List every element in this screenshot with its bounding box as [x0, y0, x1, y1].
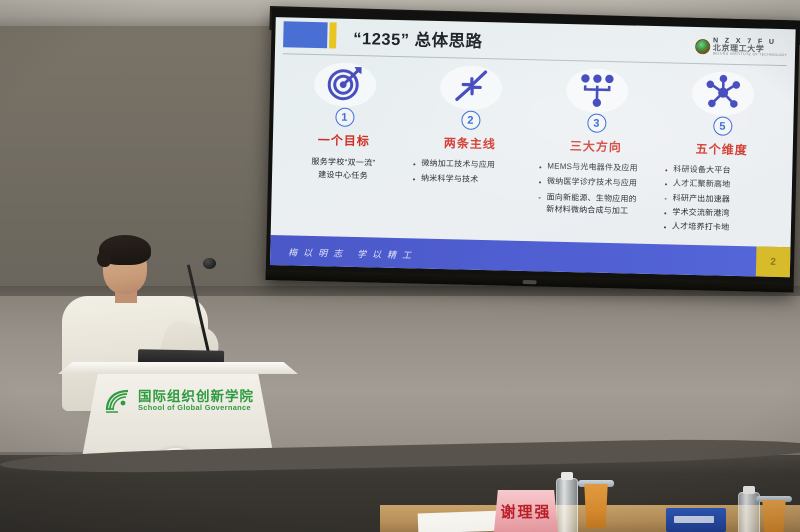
column-heading: 三大方向: [570, 137, 622, 155]
name-plate: 谢理强: [494, 490, 558, 532]
tree-hierarchy-icon: [577, 66, 618, 113]
column-bullet: 微纳加工技术与应用: [410, 157, 528, 173]
presentation-slide: “1235” 总体思路 N Z X 7 F U 北京理工大学 BEIJING I…: [270, 17, 796, 277]
column-number: 3: [587, 113, 606, 132]
microphone-icon: [203, 258, 216, 269]
projection-screen: “1235” 总体思路 N Z X 7 F U 北京理工大学 BEIJING I…: [266, 8, 800, 292]
column-bullet: 科研产出加速器: [661, 192, 779, 208]
water-bottle: [556, 478, 578, 532]
column-heading: 五个维度: [696, 140, 748, 158]
tissue-box: [666, 508, 726, 532]
podium-logo-en: School of Global Governance: [138, 404, 254, 412]
column-bullet: 人才培养打卡地: [661, 220, 779, 236]
slide-title: “1235” 总体思路: [353, 23, 674, 59]
drink-cup: [760, 500, 788, 532]
bit-university-logo: N Z X 7 F U 北京理工大学 BEIJING INSTITUTE OF …: [695, 33, 788, 61]
column-bullet: 人才汇聚新高地: [662, 178, 780, 194]
header-yellow-stripe: [329, 22, 337, 48]
photo-scene: “1235” 总体思路 N Z X 7 F U 北京理工大学 BEIJING I…: [0, 0, 800, 532]
column-bullet: 纳米科学与技术: [410, 173, 528, 189]
speaker-hair: [99, 235, 151, 265]
slide-column: 2 两条主线 微纳加工技术与应用 纳米科学与技术: [405, 62, 535, 243]
column-bullet: 科研设备大平台: [662, 163, 780, 179]
slide-column: 1 一个目标 服务学校“双一流” 建设中心任务: [279, 59, 409, 240]
header-blue-block: [283, 21, 328, 48]
bit-logo-sub: BEIJING INSTITUTE OF TECHNOLOGY: [713, 52, 787, 57]
milk-tea-cup: [582, 484, 610, 528]
podium-top-surface: [58, 362, 298, 374]
target-icon: [325, 60, 366, 107]
paper-sheet: [418, 511, 505, 532]
bullet-line-1: 面向新能源、生物应用的: [547, 192, 637, 203]
column-heading: 两条主线: [444, 134, 496, 152]
screen-indicator-icon: [523, 280, 537, 284]
school-mark-icon: [104, 388, 131, 415]
slide-columns: 1 一个目标 服务学校“双一流” 建设中心任务: [279, 59, 787, 249]
column-bullet: 面向新能源、生物应用的新材料微纳合成与加工: [535, 191, 654, 219]
column-heading: 一个目标: [318, 131, 370, 149]
column-number: 5: [713, 116, 732, 135]
slide-column: 3 三大方向 MEMS与光电器件及应用 微纳医学诊疗技术与应用 面向新能源、生物…: [531, 65, 661, 246]
footer-calligraphy-text: 梅以明志 学以精工: [288, 245, 417, 261]
column-number: 1: [335, 108, 354, 127]
name-plate-text: 谢理强: [500, 501, 551, 522]
slide-page-number: 2: [756, 246, 791, 277]
column-bullet: MEMS与光电器件及应用: [536, 160, 654, 176]
network-node-icon: [703, 69, 744, 116]
bit-seal-icon: [695, 38, 710, 53]
slide-column: 5 五个维度 科研设备大平台 人才汇聚新高地 科研产出加速器 学术交流新港湾 人…: [656, 68, 786, 249]
column-number: 2: [461, 110, 480, 129]
column-bullet: 学术交流新港湾: [661, 206, 779, 222]
column-bullet: 微纳医学诊疗技术与应用: [536, 176, 654, 192]
converging-arrows-icon: [451, 63, 492, 110]
podium-school-logo: 国际组织创新学院 School of Global Governance: [104, 384, 280, 418]
podium-logo-cn: 国际组织创新学院: [138, 390, 254, 404]
bullet-line-2: 新材料微纳合成与加工: [546, 204, 653, 219]
column-text-line: 建设中心任务: [284, 168, 402, 184]
